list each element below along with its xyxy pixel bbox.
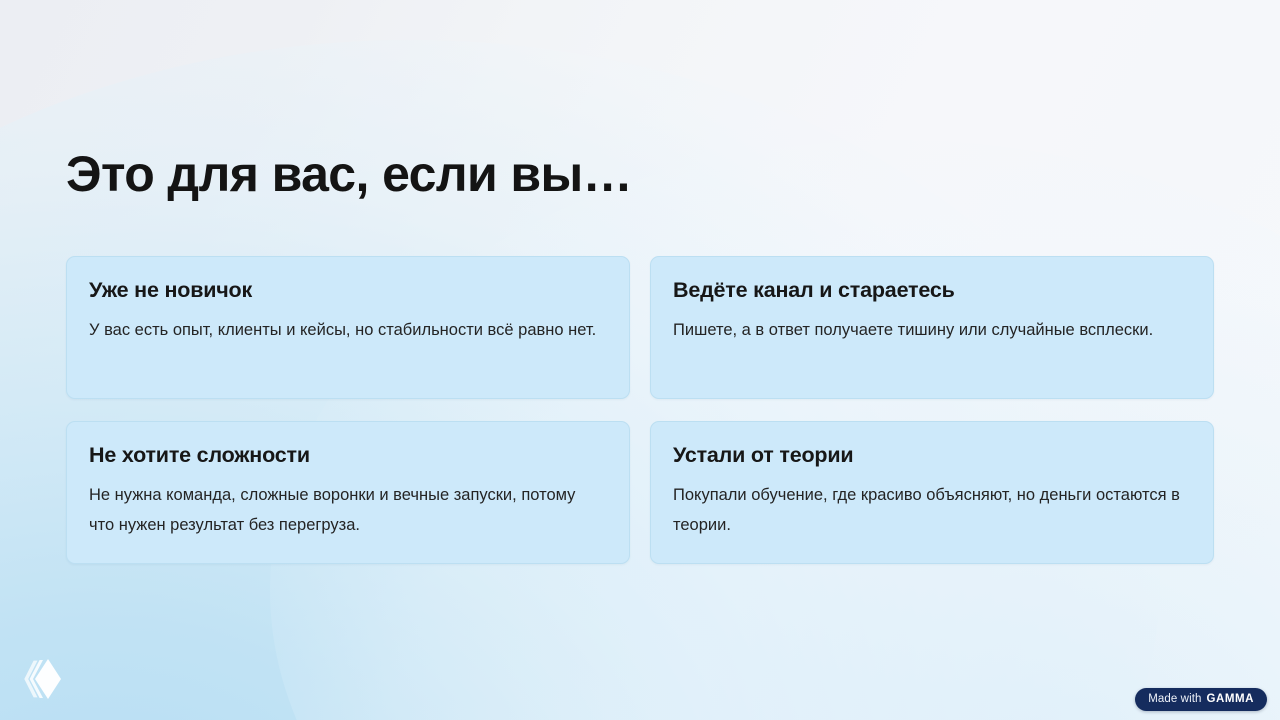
made-with-gamma-badge[interactable]: Made with GAMMA: [1135, 688, 1267, 711]
card-body: Пишете, а в ответ получаете тишину или с…: [673, 315, 1185, 345]
card-body: Покупали обучение, где красиво объясняют…: [673, 480, 1185, 540]
slide-canvas: Это для вас, если вы… Уже не новичок У в…: [0, 0, 1280, 720]
card-body: У вас есть опыт, клиенты и кейсы, но ста…: [89, 315, 601, 345]
slide-content: Это для вас, если вы… Уже не новичок У в…: [0, 0, 1280, 720]
card-item-1: Уже не новичок У вас есть опыт, клиенты …: [66, 256, 630, 399]
page-title: Это для вас, если вы…: [66, 143, 632, 205]
gamma-diamond-logo-icon: [22, 656, 64, 702]
card-title: Не хотите сложности: [89, 442, 607, 469]
card-body: Не нужна команда, сложные воронки и вечн…: [89, 480, 601, 540]
card-item-4: Устали от теории Покупали обучение, где …: [650, 421, 1214, 564]
card-grid: Уже не новичок У вас есть опыт, клиенты …: [66, 256, 1214, 564]
badge-brand-label: GAMMA: [1207, 694, 1254, 706]
card-item-2: Ведёте канал и стараетесь Пишете, а в от…: [650, 256, 1214, 399]
card-title: Ведёте канал и стараетесь: [673, 277, 1191, 304]
badge-prefix-label: Made with: [1148, 694, 1201, 706]
card-title: Уже не новичок: [89, 277, 607, 304]
card-title: Устали от теории: [673, 442, 1191, 469]
card-item-3: Не хотите сложности Не нужна команда, сл…: [66, 421, 630, 564]
